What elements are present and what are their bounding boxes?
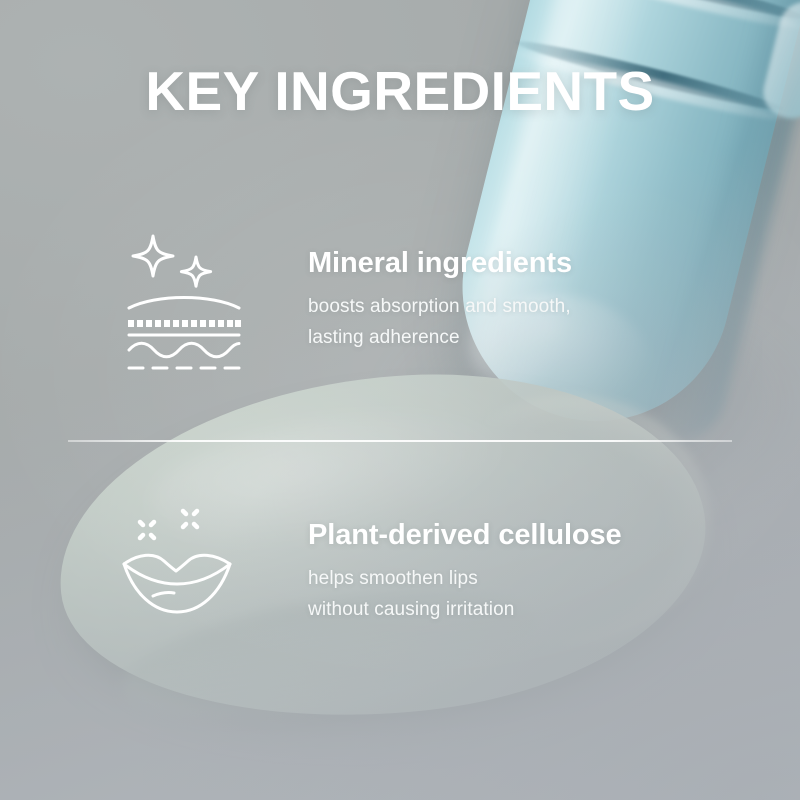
feature-heading: Mineral ingredients xyxy=(308,248,572,280)
feature-description-line: lasting adherence xyxy=(308,323,572,354)
feature-item-plant-derived-cellulose: Plant-derived cellulose helps smoothen l… xyxy=(120,508,622,625)
feature-item-mineral-ingredients: Mineral ingredients boosts absorption an… xyxy=(126,232,572,358)
page-title: KEY INGREDIENTS xyxy=(0,64,800,119)
feature-heading: Plant-derived cellulose xyxy=(308,520,622,552)
feature-text-plant-derived-cellulose: Plant-derived cellulose helps smoothen l… xyxy=(308,508,622,625)
ingredients-poster: KEY INGREDIENTS xyxy=(0,0,800,800)
poster-content: KEY INGREDIENTS xyxy=(0,0,800,800)
skin-layers-sparkle-icon xyxy=(126,232,242,358)
feature-text-mineral-ingredients: Mineral ingredients boosts absorption an… xyxy=(308,232,572,353)
section-divider xyxy=(68,440,732,442)
lips-sparkle-icon xyxy=(120,508,236,620)
feature-description-line: boosts absorption and smooth, xyxy=(308,292,572,323)
feature-description-line: helps smoothen lips xyxy=(308,564,622,595)
feature-description-line: without causing irritation xyxy=(308,595,622,626)
